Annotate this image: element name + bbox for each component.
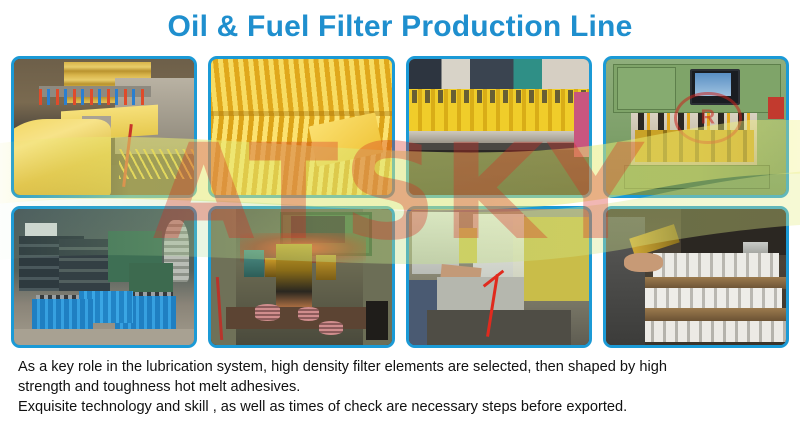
photo-crimping-press <box>211 209 391 345</box>
gallery-photo-8[interactable] <box>603 206 789 348</box>
product-image-page: Oil & Fuel Filter Production Line <box>0 0 800 428</box>
description-line-3: Exquisite technology and skill , as well… <box>18 397 784 417</box>
photo-gallery-grid <box>11 56 789 348</box>
photo-conveyor-assembly <box>409 59 589 195</box>
gallery-photo-5[interactable] <box>11 206 197 348</box>
gallery-photo-1[interactable] <box>11 56 197 198</box>
gallery-photo-7[interactable] <box>406 206 592 348</box>
gallery-photo-6[interactable] <box>208 206 394 348</box>
gallery-photo-2[interactable] <box>208 56 394 198</box>
photo-finished-filters-inspection <box>606 209 786 345</box>
description-line-1: As a key role in the lubrication system,… <box>18 357 784 377</box>
description-line-2: strength and toughness hot melt adhesive… <box>18 377 784 397</box>
gallery-photo-4[interactable] <box>603 56 789 198</box>
photo-green-cnc-machine <box>606 59 786 195</box>
gallery-photo-3[interactable] <box>406 56 592 198</box>
photo-operator-yellow-machine <box>409 209 589 345</box>
page-title: Oil & Fuel Filter Production Line <box>0 8 800 46</box>
photo-workshop-crates <box>14 209 194 345</box>
photo-paper-roll-machine <box>14 59 194 195</box>
description-text: As a key role in the lubrication system,… <box>18 357 784 417</box>
photo-pleated-filter-paper <box>211 59 391 195</box>
registered-mark-icon <box>674 92 741 144</box>
